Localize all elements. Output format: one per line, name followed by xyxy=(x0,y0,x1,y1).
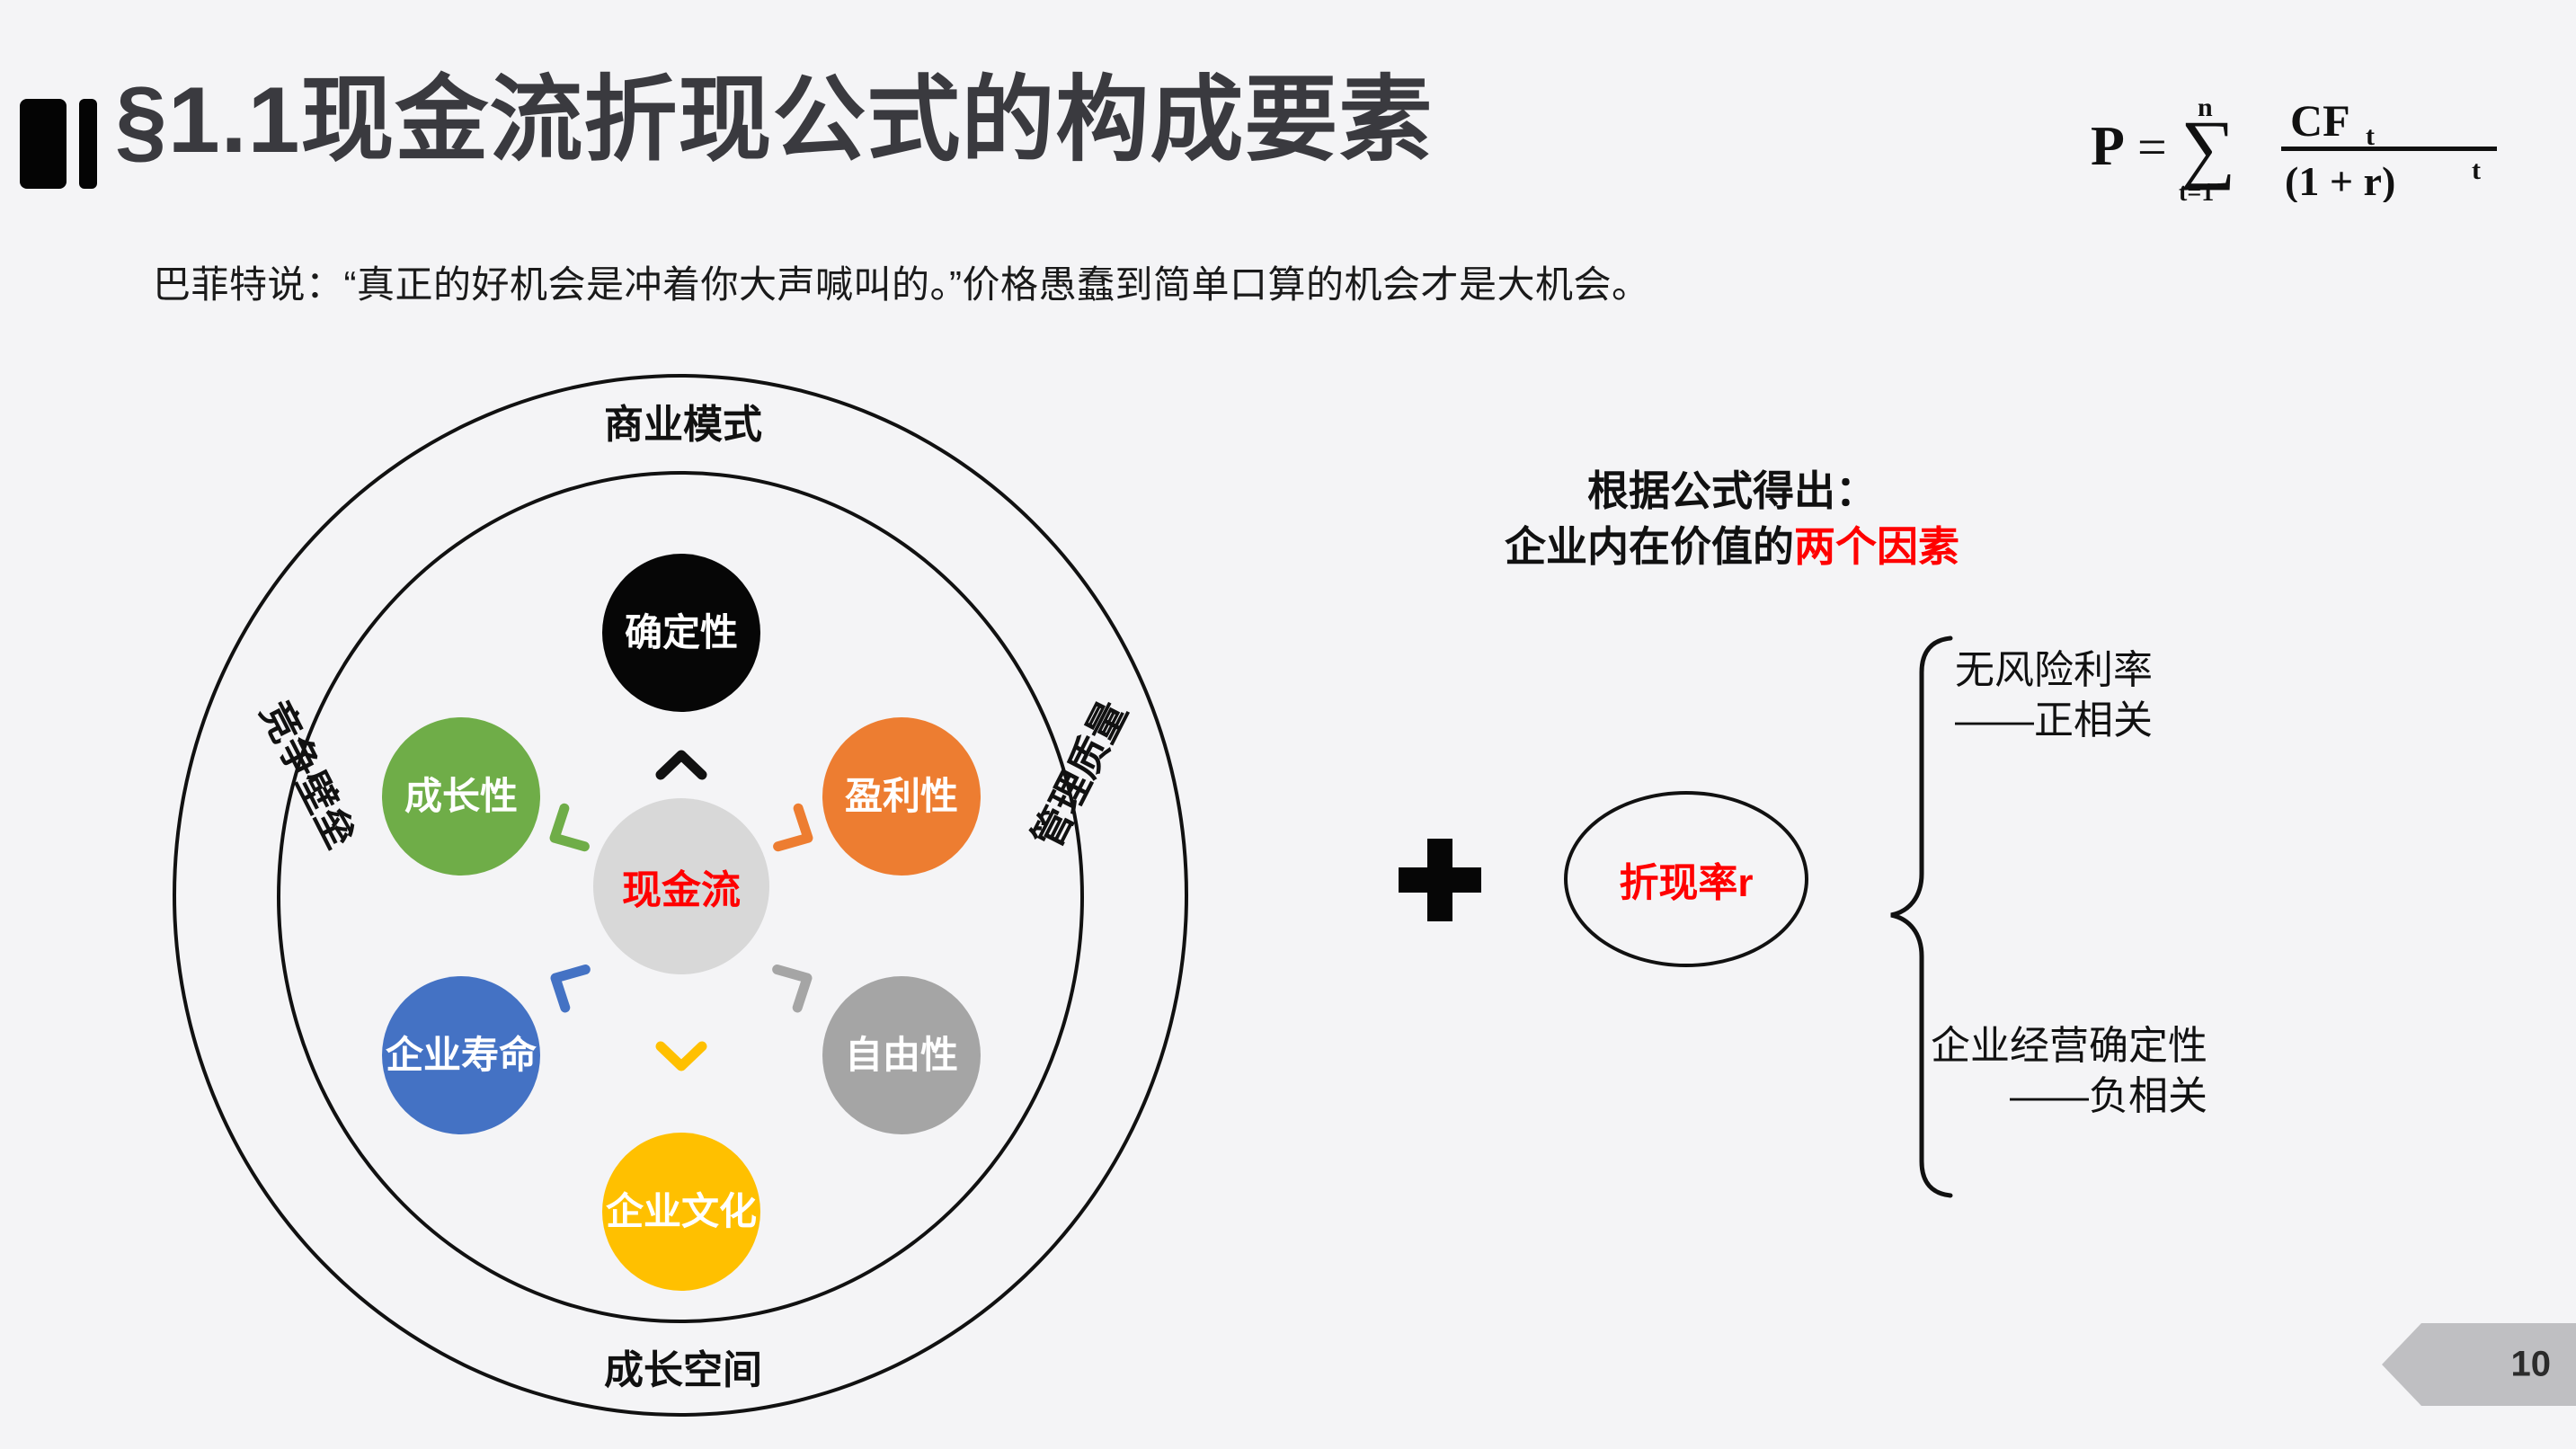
conclusion-line2-highlight: 两个因素 xyxy=(1794,523,1959,570)
chevron-bottom-icon xyxy=(650,1025,713,1088)
branch-operating-certainty-title: 企业经营确定性 xyxy=(1931,1024,2207,1068)
chevron-lower-left-icon xyxy=(534,953,597,1016)
svg-text:P: P xyxy=(2091,116,2125,177)
branch-risk-free-rate-title: 无风险利率 xyxy=(1955,648,2153,692)
plus-icon xyxy=(1391,831,1488,929)
conclusion-line2: 企业内在价值的两个因素 xyxy=(1305,520,2159,575)
page-number-badge: 10 xyxy=(2382,1323,2576,1406)
bubble-company-culture[interactable]: 企业文化 xyxy=(602,1133,760,1291)
ring-label-top: 商业模式 xyxy=(604,392,762,449)
bubble-company-lifespan[interactable]: 企业寿命 xyxy=(382,976,540,1134)
branch-risk-free-rate-relation: ——正相关 xyxy=(1955,696,2153,746)
slide-canvas: §1.1现金流折现公式的构成要素 巴菲特说：“真正的好机会是冲着你大声喊叫的。”… xyxy=(0,0,2576,1449)
conclusion-line2-prefix: 企业内在价值的 xyxy=(1505,523,1794,570)
page-number: 10 xyxy=(2511,1345,2552,1385)
branch-operating-certainty: 企业经营确定性 ——负相关 xyxy=(1931,1021,2207,1123)
bubble-certainty[interactable]: 确定性 xyxy=(602,554,760,712)
svg-text:t: t xyxy=(2472,156,2481,185)
bubble-growth[interactable]: 成长性 xyxy=(382,717,540,876)
svg-text:=: = xyxy=(2137,118,2167,176)
page-title: §1.1现金流折现公式的构成要素 xyxy=(115,74,1433,167)
accent-bar-thick xyxy=(20,99,67,189)
conclusion-heading: 根据公式得出： 企业内在价值的两个因素 xyxy=(1305,464,2159,574)
chevron-lower-right-icon xyxy=(766,953,829,1016)
title-accent-bars xyxy=(20,99,97,189)
node-discount-rate[interactable]: 折现率r xyxy=(1564,791,1808,967)
chevron-upper-right-icon xyxy=(766,802,829,865)
page-subtitle: 巴菲特说：“真正的好机会是冲着你大声喊叫的。”价格愚蠢到简单口算的机会才是大机会… xyxy=(153,254,1649,309)
dcf-formula: P = n ∑ t=1 CF t (1 + r) t xyxy=(2076,86,2526,201)
bubble-freedom[interactable]: 自由性 xyxy=(822,976,981,1134)
dcf-formula-svg: P = n ∑ t=1 CF t (1 + r) t xyxy=(2085,85,2517,202)
conclusion-line1: 根据公式得出： xyxy=(1305,464,2159,520)
svg-text:(1 + r): (1 + r) xyxy=(2285,158,2395,202)
chevron-upper-left-icon xyxy=(534,802,597,865)
svg-text:t=1: t=1 xyxy=(2179,179,2214,202)
svg-text:∑: ∑ xyxy=(2181,104,2235,191)
branch-operating-certainty-relation: ——负相关 xyxy=(1931,1071,2207,1122)
core-cash-flow[interactable]: 现金流 xyxy=(593,798,769,974)
svg-text:CF: CF xyxy=(2290,95,2350,146)
chevron-top-icon xyxy=(650,735,713,798)
bubble-profitability[interactable]: 盈利性 xyxy=(822,717,981,876)
branch-risk-free-rate: 无风险利率 ——正相关 xyxy=(1955,645,2153,747)
value-driver-diagram: 商业模式 成长空间 竞争壁垒 管理质量 确定性 成长性 盈利性 企业寿命 自由性… xyxy=(153,358,1213,1436)
ring-label-bottom: 成长空间 xyxy=(604,1338,762,1395)
accent-bar-thin xyxy=(79,99,97,189)
